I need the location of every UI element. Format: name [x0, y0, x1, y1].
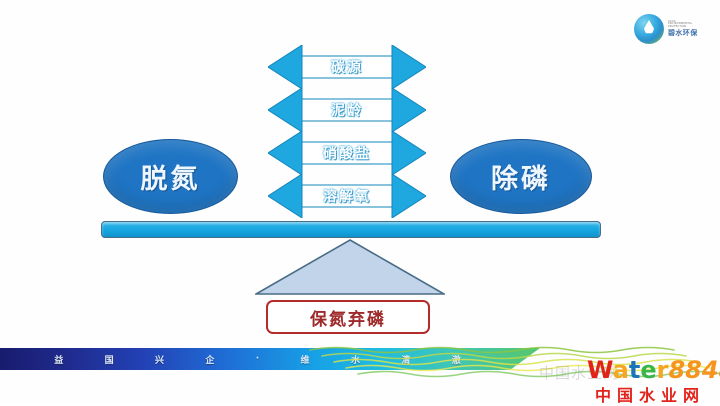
- factor-arrow-label: 硝酸盐: [268, 131, 426, 175]
- water-drop-icon: [634, 14, 664, 44]
- conclusion-callout: 保氮弃磷: [266, 300, 430, 334]
- factor-arrow-label: 溶解氧: [268, 174, 426, 218]
- slogan-char: 益: [54, 353, 64, 366]
- balance-beam: [101, 221, 601, 238]
- watermark-brand: Water8848.com: [587, 358, 720, 382]
- watermark-chinese: 中国水业网: [595, 382, 705, 406]
- factor-arrow: 泥龄: [268, 88, 426, 132]
- conclusion-callout-label: 保氮弃磷: [310, 305, 386, 330]
- logo-english-line-3: PROTECTION: [668, 26, 698, 29]
- company-logo: XXXX ENVIRONMENTAL PROTECTION 碧水环保: [634, 12, 710, 46]
- brand-part: a: [613, 356, 629, 384]
- slogan-char: 企: [205, 353, 215, 366]
- factor-arrow: 碳源: [268, 45, 426, 89]
- slogan-char: 兴: [155, 353, 165, 366]
- brand-part: W: [587, 356, 613, 384]
- factor-arrow-label: 碳源: [268, 45, 426, 89]
- slide-canvas: XXXX ENVIRONMENTAL PROTECTION 碧水环保 脱氮 除磷…: [0, 0, 720, 404]
- logo-chinese-name: 碧水环保: [668, 30, 698, 37]
- brand-part: r: [657, 356, 669, 384]
- logo-text-block: XXXX ENVIRONMENTAL PROTECTION 碧水环保: [668, 21, 698, 38]
- site-watermark: 中国水业网 Water8848.com 中国水业网: [545, 356, 720, 402]
- left-pan-label: 脱氮: [141, 157, 201, 196]
- brand-part: 8848: [668, 356, 720, 384]
- right-pan-label: 除磷: [491, 157, 551, 196]
- fulcrum-triangle: [255, 239, 445, 296]
- brand-part: e: [640, 356, 656, 384]
- factor-arrow: 硝酸盐: [268, 131, 426, 175]
- slogan-char: 国: [105, 353, 115, 366]
- factor-arrow-label: 泥龄: [268, 88, 426, 132]
- slogan-char: ·: [256, 354, 260, 364]
- right-pan-ellipse: 除磷: [450, 139, 592, 214]
- brand-part: t: [629, 356, 640, 384]
- factor-arrow: 溶解氧: [268, 174, 426, 218]
- left-pan-ellipse: 脱氮: [103, 139, 238, 214]
